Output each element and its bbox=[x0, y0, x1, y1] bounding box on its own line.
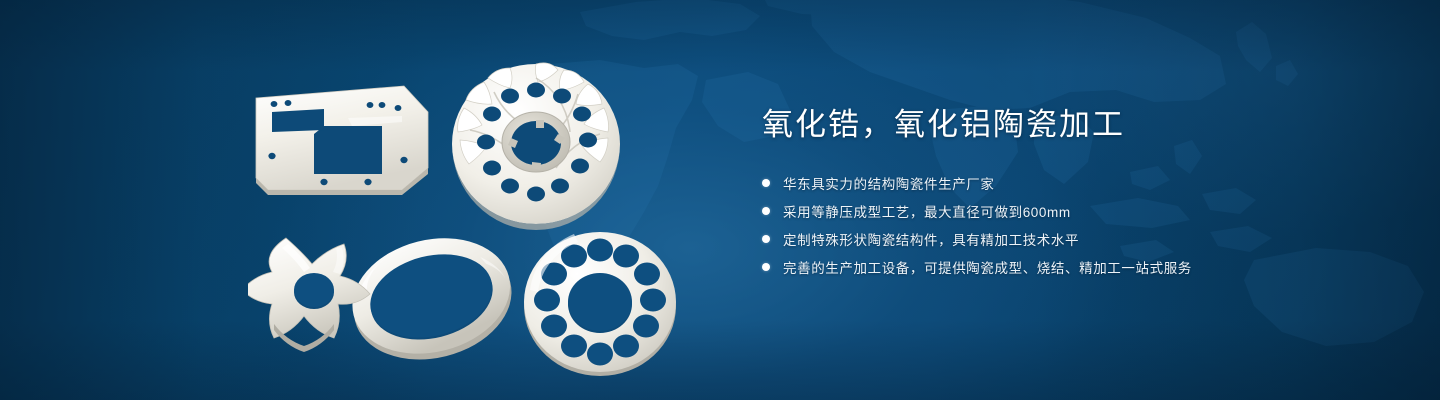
feature-text: 定制特殊形状陶瓷结构件，具有精加工技术水平 bbox=[783, 229, 1079, 249]
bullet-dot-icon bbox=[762, 207, 770, 215]
bullet-dot-icon bbox=[762, 179, 770, 187]
feature-list: 华东具实力的结构陶瓷件生产厂家 采用等静压成型工艺，最大直径可做到600mm 定… bbox=[762, 172, 1382, 278]
feature-item: 采用等静压成型工艺，最大直径可做到600mm bbox=[762, 200, 1382, 222]
feature-item: 完善的生产加工设备，可提供陶瓷成型、烧结、精加工一站式服务 bbox=[762, 256, 1382, 278]
feature-text: 华东具实力的结构陶瓷件生产厂家 bbox=[783, 173, 995, 193]
bullet-dot-icon bbox=[762, 263, 770, 271]
feature-text: 完善的生产加工设备，可提供陶瓷成型、烧结、精加工一站式服务 bbox=[783, 257, 1192, 277]
hero-banner: 氧化锆，氧化铝陶瓷加工 华东具实力的结构陶瓷件生产厂家 采用等静压成型工艺，最大… bbox=[0, 0, 1440, 400]
feature-text: 采用等静压成型工艺，最大直径可做到600mm bbox=[783, 201, 1071, 221]
ceramic-valve-plate-image bbox=[516, 226, 684, 378]
ceramic-plate-image bbox=[252, 82, 432, 197]
ceramic-cross-part-image bbox=[248, 228, 398, 356]
bullet-dot-icon bbox=[762, 235, 770, 243]
copy-block: 氧化锆，氧化铝陶瓷加工 华东具实力的结构陶瓷件生产厂家 采用等静压成型工艺，最大… bbox=[762, 104, 1382, 284]
banner-headline: 氧化锆，氧化铝陶瓷加工 bbox=[762, 104, 1382, 146]
product-group bbox=[0, 0, 760, 400]
feature-item: 定制特殊形状陶瓷结构件，具有精加工技术水平 bbox=[762, 228, 1382, 250]
feature-item: 华东具实力的结构陶瓷件生产厂家 bbox=[762, 172, 1382, 194]
ceramic-impeller-image bbox=[448, 52, 624, 230]
